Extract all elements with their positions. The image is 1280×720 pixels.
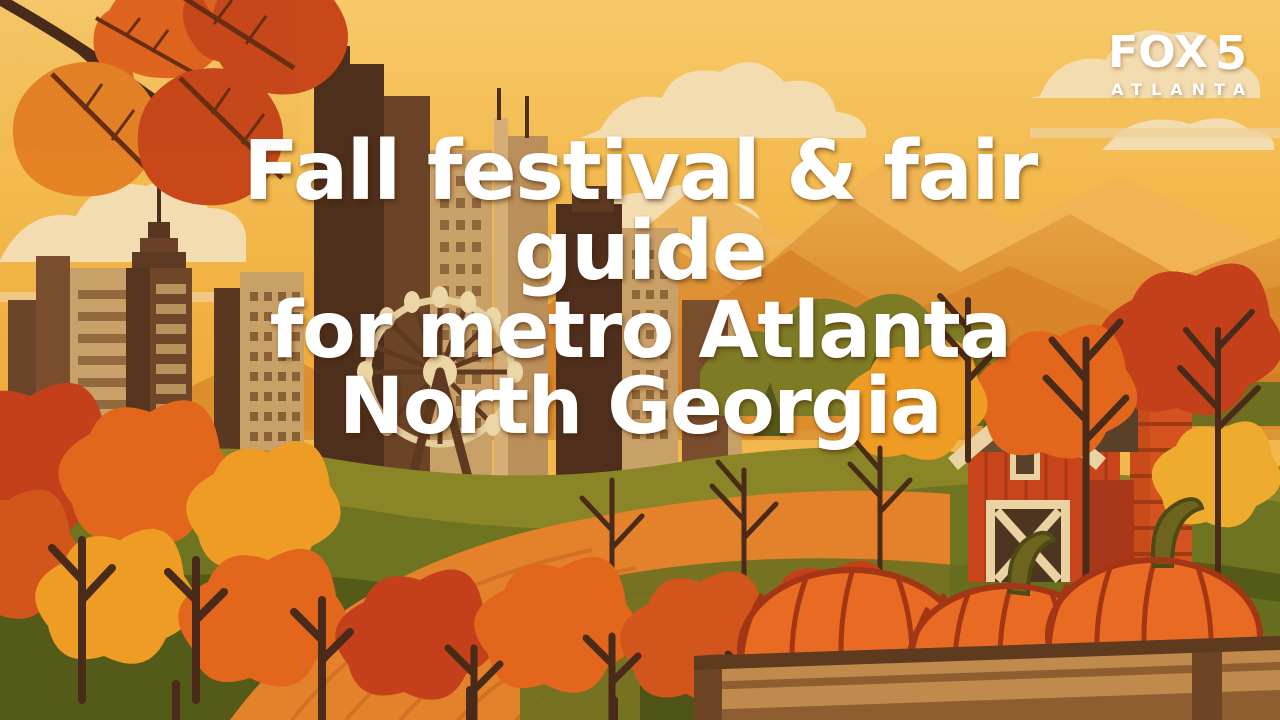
autumn-scene-illustration	[0, 0, 1280, 720]
fox-5-atlanta-logo: FOX 5 ATLANTA	[1108, 30, 1248, 98]
hero-graphic: Fall festival & fair guide for metro Atl…	[0, 0, 1280, 720]
logo-fox-word: FOX	[1108, 31, 1208, 75]
logo-channel-number: 5	[1215, 30, 1248, 76]
logo-primary-row: FOX 5	[1108, 30, 1248, 76]
logo-market-name: ATLANTA	[1108, 82, 1257, 98]
